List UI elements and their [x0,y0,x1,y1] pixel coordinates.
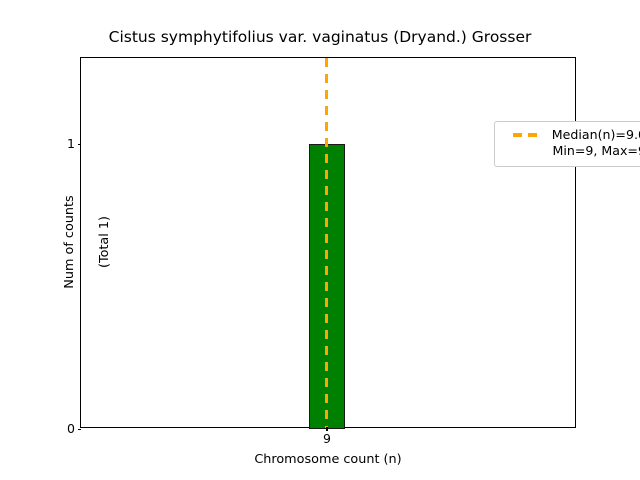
median-line-marker [325,58,328,428]
ytick-mark-0 [78,429,82,430]
y-axis-label-line2: (Total 1) [96,112,113,372]
xtick-label-9: 9 [323,433,331,446]
y-axis-label: Num of counts (Total 1) [44,112,130,372]
dashed-line-icon [513,133,543,136]
legend-entry-median: Median(n)=9.0 [502,127,640,143]
x-axis-label: Chromosome count (n) [80,452,576,467]
chart-legend: Median(n)=9.0 Min=9, Max=9 [494,121,640,167]
legend-entry-minmax: Min=9, Max=9 [502,143,640,160]
xtick-mark-9 [326,427,327,431]
plot-area: 0 1 9 Median(n)=9.0 Min=9, Max=9 [80,57,576,428]
legend-label-minmax: Min=9, Max=9 [552,145,640,158]
legend-label-median: Median(n)=9.0 [552,129,640,142]
y-axis-label-line1: Num of counts [61,112,78,372]
page-title: Cistus symphytifolius var. vaginatus (Dr… [0,28,640,46]
chart-figure: Cistus symphytifolius var. vaginatus (Dr… [0,0,640,480]
ytick-label-0: 0 [67,423,75,436]
